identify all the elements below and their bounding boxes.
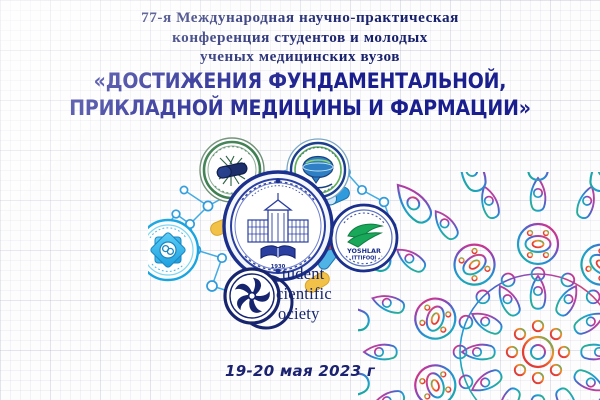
heading-line-1: 77-я Международная научно-практическая xyxy=(0,8,600,28)
svg-text:ITTIFOQI: ITTIFOQI xyxy=(352,256,377,262)
wordmark-line-1: tudent xyxy=(282,264,396,284)
uzbekiston-star-emblem xyxy=(148,220,198,280)
heading-line-2: конференция студентов и молодых xyxy=(0,28,600,48)
conference-date: 19-20 мая 2023 г xyxy=(0,362,600,380)
student-scientific-society-wordmark: tudent cientific ociety xyxy=(266,264,396,324)
wordmark-line-2: cientific xyxy=(276,284,396,304)
svg-text:YOSHLAR: YOSHLAR xyxy=(346,247,381,255)
conference-poster: 77-я Международная научно-практическая к… xyxy=(0,0,600,400)
youth-union-emblem: YOSHLAR ITTIFOQI xyxy=(331,205,397,271)
wordmark-line-3: ociety xyxy=(278,304,396,324)
logo-cluster: YOSHLAR ITTIFOQI xyxy=(148,128,408,343)
conference-heading: 77-я Международная научно-практическая к… xyxy=(0,8,600,67)
title-line-1: «ДОСТИЖЕНИЯ ФУНДАМЕНТАЛЬНОЙ, xyxy=(36,68,564,95)
page-title: «ДОСТИЖЕНИЯ ФУНДАМЕНТАЛЬНОЙ, ПРИКЛАДНОЙ … xyxy=(0,68,600,122)
heading-line-3: ученых медицинских вузов xyxy=(0,47,600,67)
title-line-2: ПРИКЛАДНОЙ МЕДИЦИНЫ И ФАРМАЦИИ» xyxy=(36,95,564,122)
